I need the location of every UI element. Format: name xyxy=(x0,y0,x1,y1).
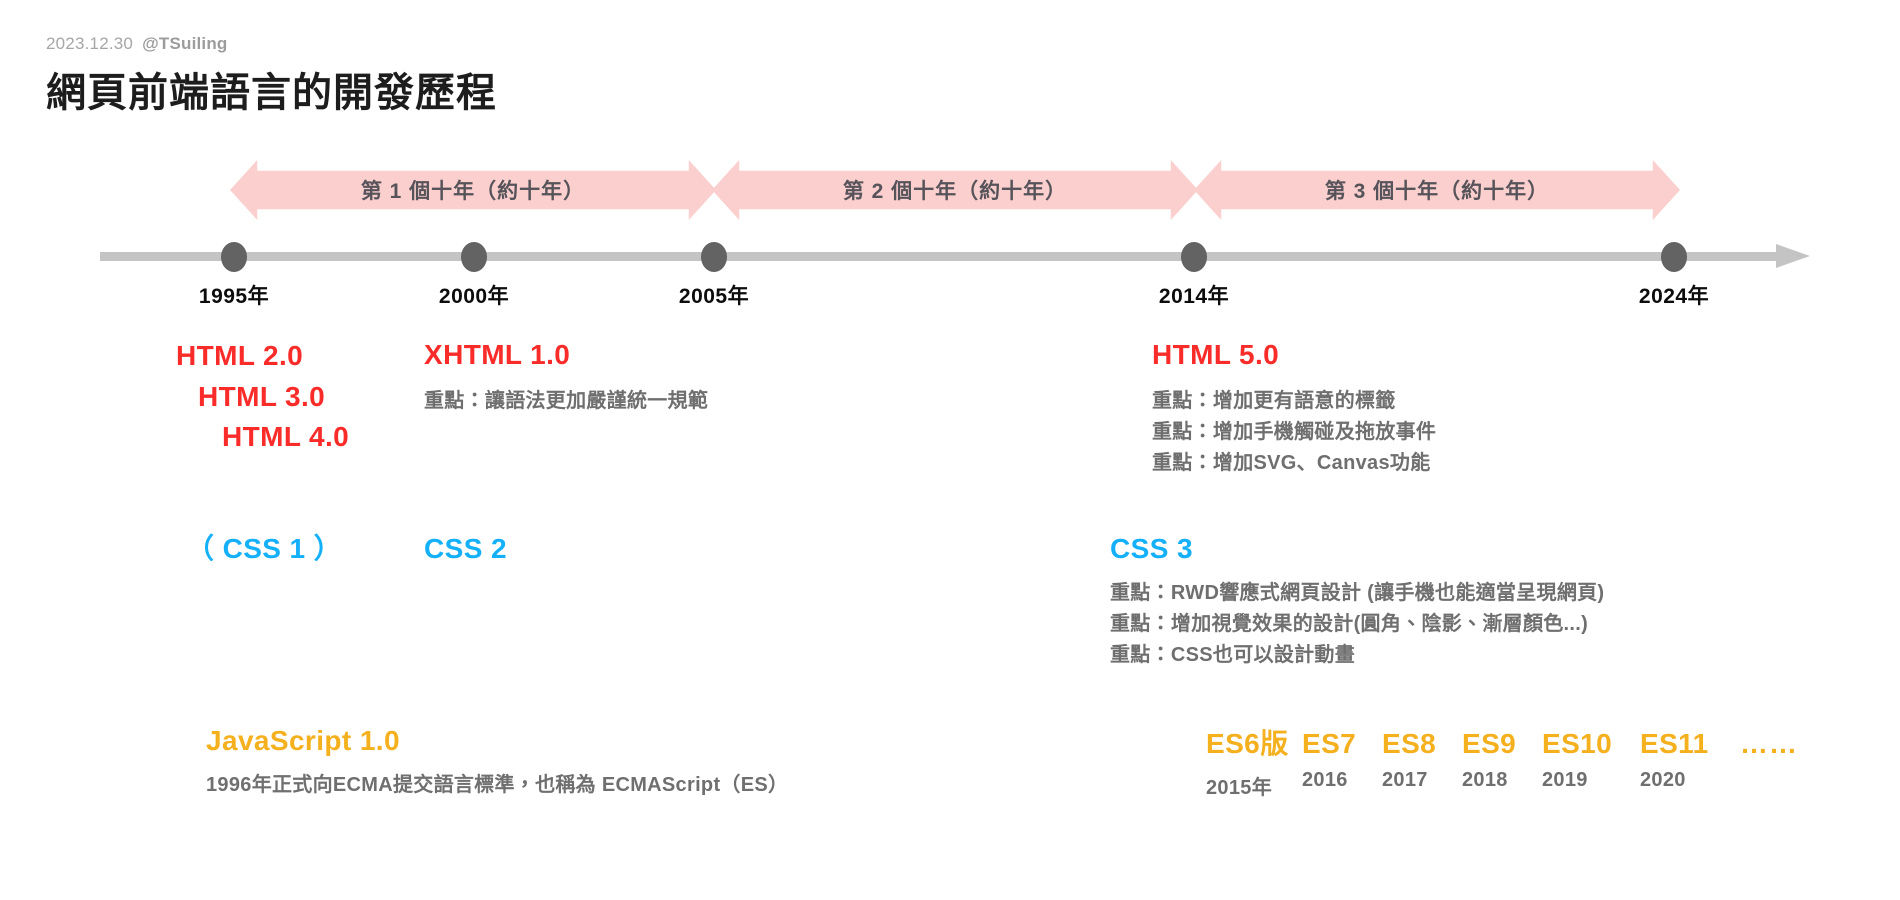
xhtml-1-0-label: XHTML 1.0 xyxy=(424,336,708,374)
es-item-more: …… xyxy=(1740,728,1798,760)
decade-label-2: 第 2 個十年（約十年） xyxy=(843,175,1067,205)
axis-line xyxy=(100,252,1780,261)
axis-year-label-4: 2014年 xyxy=(1159,280,1229,310)
html5-note-3: 重點：增加SVG、Canvas功能 xyxy=(1152,448,1436,479)
axis-dot-2005[interactable] xyxy=(701,242,727,272)
html-2-0-label: HTML 2.0 xyxy=(176,336,349,377)
es6-label: ES6版 xyxy=(1206,722,1302,762)
es-item-es10: ES10 2019 xyxy=(1542,728,1640,792)
decade-arrow-1: 第 1 個十年（約十年） xyxy=(230,160,716,220)
css3-note-3: 重點：CSS也可以設計動畫 xyxy=(1110,640,1604,671)
html-3-0-label: HTML 3.0 xyxy=(198,377,349,418)
es9-label: ES9 xyxy=(1462,728,1542,760)
meta-line: 2023.12.30@TSuiling xyxy=(46,34,497,54)
timeline-axis: 1995年 2000年 2005年 2014年 2024年 xyxy=(100,252,1814,261)
axis-dot-2014[interactable] xyxy=(1181,242,1207,272)
html-early-versions-group: HTML 2.0 HTML 3.0 HTML 4.0 xyxy=(176,336,349,458)
es8-year: 2017 xyxy=(1382,769,1462,792)
axis-year-label-3: 2005年 xyxy=(679,280,749,310)
es9-year: 2018 xyxy=(1462,769,1542,792)
javascript-group: JavaScript 1.0 1996年正式向ECMA提交語言標準，也稱為 EC… xyxy=(206,722,788,801)
es7-year: 2016 xyxy=(1302,769,1382,792)
es-versions-group: ES6版 2015年 ES7 2016 ES8 2017 ES9 2018 ES… xyxy=(1206,722,1798,800)
publish-date: 2023.12.30 xyxy=(46,34,133,53)
html5-group: HTML 5.0 重點：增加更有語意的標籤 重點：增加手機觸碰及拖放事件 重點：… xyxy=(1152,336,1436,479)
javascript-note-1: 1996年正式向ECMA提交語言標準，也稱為 ECMAScript（ES） xyxy=(206,770,788,801)
page-title: 網頁前端語言的開發歷程 xyxy=(46,60,497,118)
es-item-es9: ES9 2018 xyxy=(1462,728,1542,792)
axis-dot-2000[interactable] xyxy=(461,242,487,272)
es11-year: 2020 xyxy=(1640,769,1740,792)
css3-group: CSS 3 重點：RWD響應式網頁設計 (讓手機也能適當呈現網頁) 重點：增加視… xyxy=(1110,530,1604,671)
es-item-es11: ES11 2020 xyxy=(1640,728,1740,792)
es10-label: ES10 xyxy=(1542,728,1640,760)
css-3-label: CSS 3 xyxy=(1110,530,1604,568)
decade-arrow-3: 第 3 個十年（約十年） xyxy=(1194,160,1680,220)
javascript-1-0-label: JavaScript 1.0 xyxy=(206,722,788,760)
es7-label: ES7 xyxy=(1302,728,1382,760)
es-item-es6: ES6版 2015年 xyxy=(1206,722,1302,800)
html5-note-2: 重點：增加手機觸碰及拖放事件 xyxy=(1152,417,1436,448)
es10-year: 2019 xyxy=(1542,769,1640,792)
html-5-0-label: HTML 5.0 xyxy=(1152,336,1436,374)
axis-year-label-5: 2024年 xyxy=(1639,280,1709,310)
axis-dot-2024[interactable] xyxy=(1661,242,1687,272)
css1-group: （ CSS 1 ） xyxy=(186,530,342,568)
html-4-0-label: HTML 4.0 xyxy=(222,417,349,458)
axis-year-label-1: 1995年 xyxy=(199,280,269,310)
axis-year-label-2: 2000年 xyxy=(439,280,509,310)
xhtml-note-1: 重點：讓語法更加嚴謹統一規範 xyxy=(424,386,708,417)
decade-label-3: 第 3 個十年（約十年） xyxy=(1325,175,1549,205)
decade-arrow-2: 第 2 個十年（約十年） xyxy=(712,160,1198,220)
axis-arrowhead-icon xyxy=(1776,244,1810,268)
es8-label: ES8 xyxy=(1382,728,1462,760)
es-versions-row: ES6版 2015年 ES7 2016 ES8 2017 ES9 2018 ES… xyxy=(1206,722,1798,800)
css3-note-1: 重點：RWD響應式網頁設計 (讓手機也能適當呈現網頁) xyxy=(1110,578,1604,609)
decade-arrow-band: 第 1 個十年（約十年） 第 2 個十年（約十年） 第 3 個十年（約十年） xyxy=(0,160,1900,220)
decade-label-1: 第 1 個十年（約十年） xyxy=(361,175,585,205)
es-item-es8: ES8 2017 xyxy=(1382,728,1462,792)
css2-group: CSS 2 xyxy=(424,530,507,568)
css-2-label: CSS 2 xyxy=(424,530,507,568)
es11-label: ES11 xyxy=(1640,728,1740,760)
axis-dot-1995[interactable] xyxy=(221,242,247,272)
author-handle: @TSuiling xyxy=(142,34,227,53)
es6-year: 2015年 xyxy=(1206,771,1302,800)
xhtml-group: XHTML 1.0 重點：讓語法更加嚴謹統一規範 xyxy=(424,336,708,417)
css-1-label: （ CSS 1 ） xyxy=(186,530,342,568)
es-item-es7: ES7 2016 xyxy=(1302,728,1382,792)
css3-note-2: 重點：增加視覺效果的設計(圓角、陰影、漸層顏色...) xyxy=(1110,609,1604,640)
html5-note-1: 重點：增加更有語意的標籤 xyxy=(1152,386,1436,417)
es-ellipsis-label: …… xyxy=(1740,728,1798,760)
header-block: 2023.12.30@TSuiling 網頁前端語言的開發歷程 xyxy=(46,34,497,118)
